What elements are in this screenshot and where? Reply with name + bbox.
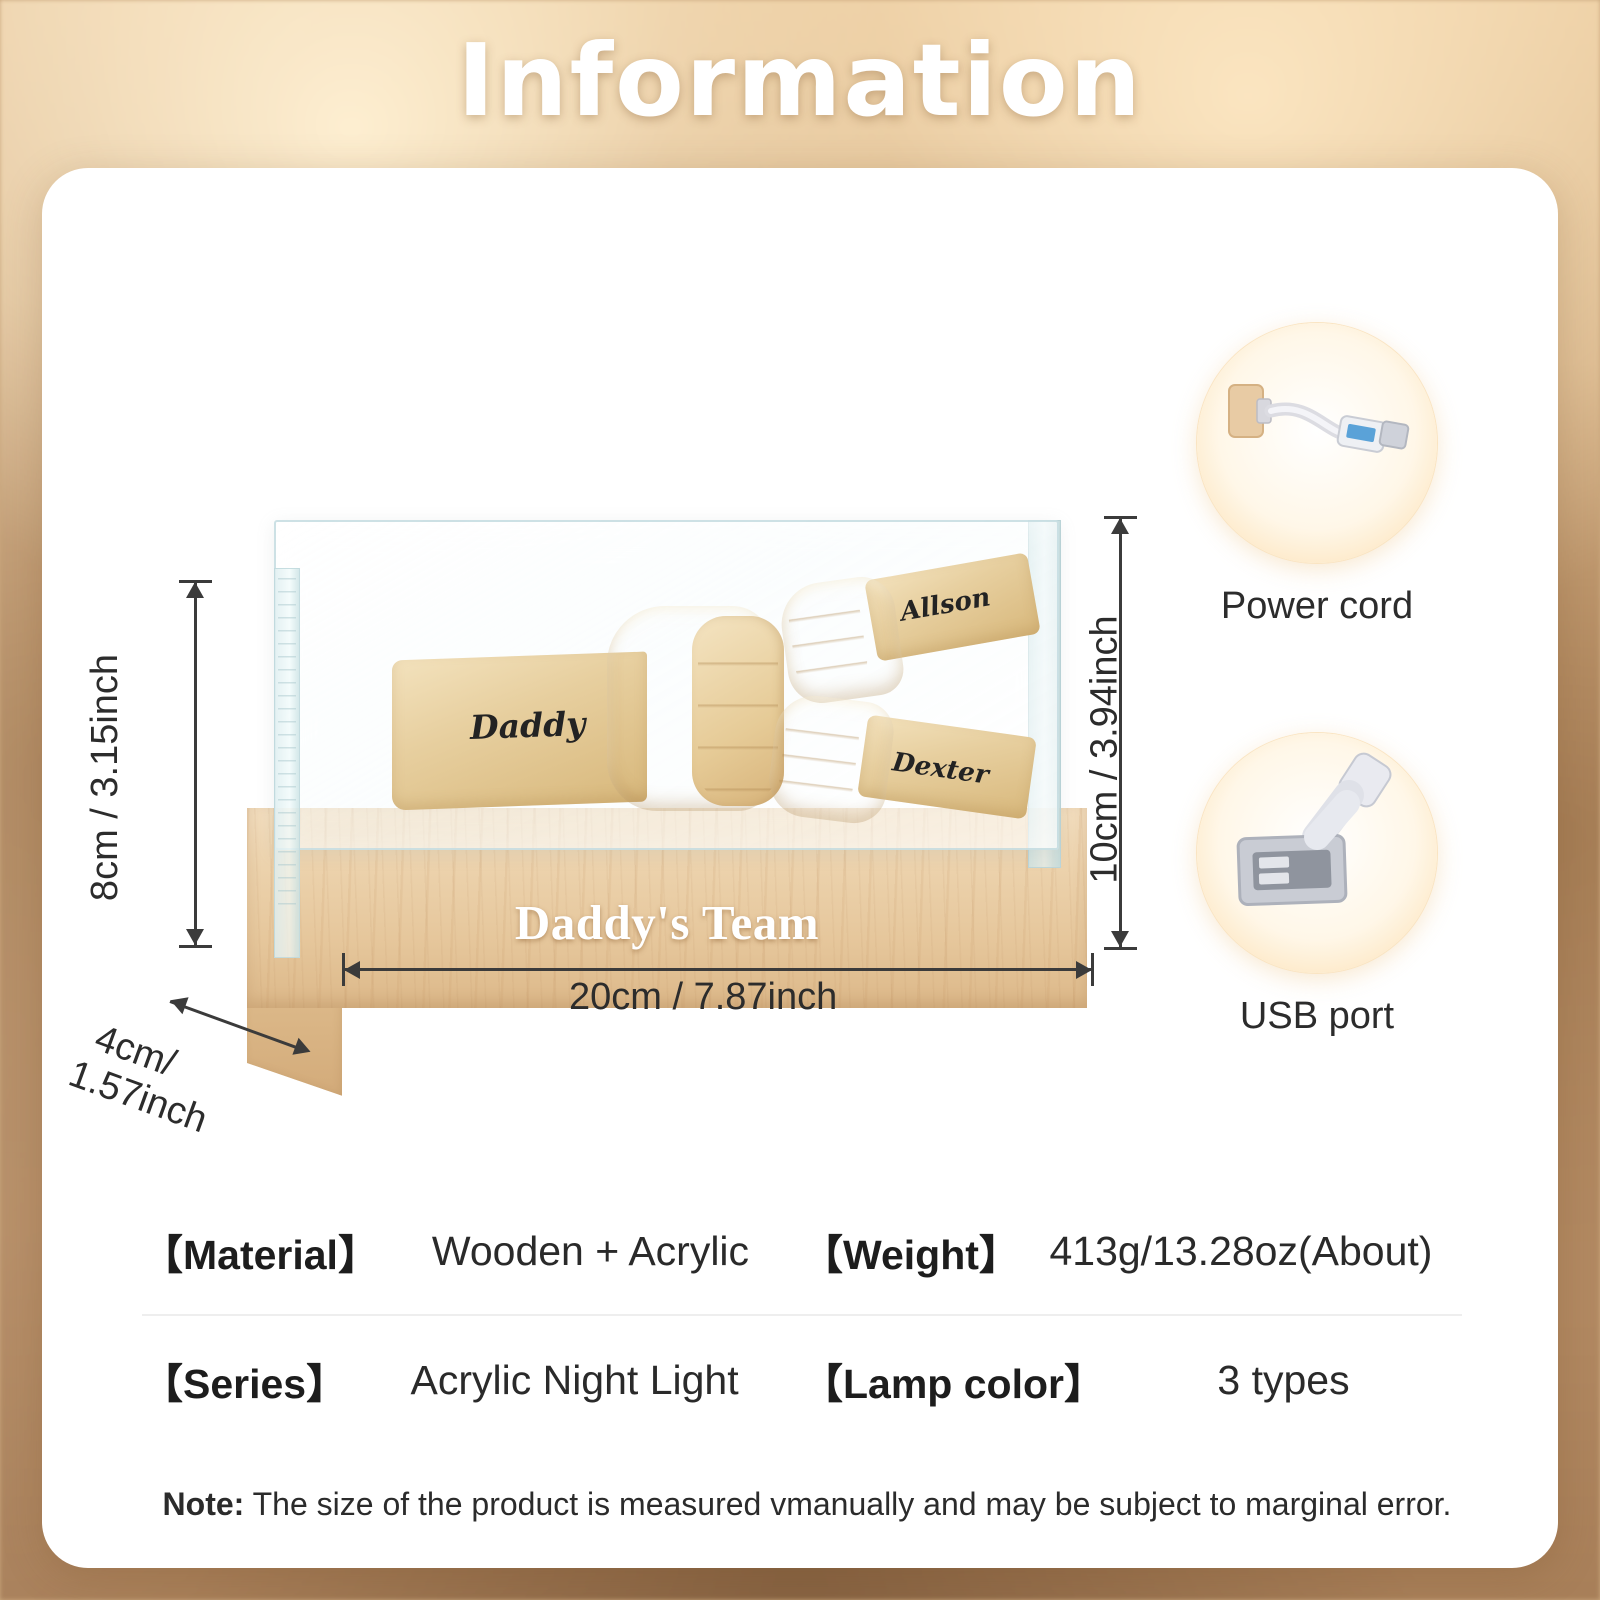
dim-depth-arrow-start	[167, 992, 188, 1014]
page-title: Information	[0, 22, 1600, 139]
dim-width-arrow-left	[344, 961, 360, 979]
dim-left-arrow-down	[186, 929, 204, 945]
spec-cell-lamp-color: 【Lamp color】 3 types	[802, 1350, 1462, 1410]
spec-key: 【Lamp color】	[802, 1350, 1105, 1410]
spec-row: 【Material】 Wooden + Acrylic 【Weight】 413…	[142, 1188, 1462, 1316]
note-body: The size of the product is measured vman…	[244, 1486, 1451, 1522]
sleeve-label-daddy: Daddy	[469, 704, 586, 747]
fist-bump-artwork: Daddy Allson Dexter	[392, 558, 1012, 838]
spec-cell-weight: 【Weight】 413g/13.28oz(About)	[802, 1221, 1462, 1281]
spec-key: 【Series】	[142, 1350, 347, 1410]
dim-right-arrow-up	[1111, 518, 1129, 534]
spec-cell-series: 【Series】 Acrylic Night Light	[142, 1350, 802, 1410]
dim-width-horizontal-line	[342, 968, 1094, 971]
usb-port-circle	[1197, 733, 1437, 973]
power-cord-circle	[1197, 323, 1437, 563]
spec-row: 【Series】 Acrylic Night Light 【Lamp color…	[142, 1316, 1462, 1444]
dim-label-height-right: 10cm / 3.94inch	[1084, 615, 1127, 883]
accessory-usb-port: USB port	[1197, 733, 1437, 1038]
product-illustration: Daddy's Team Daddy Allson Dexter	[42, 168, 1142, 1068]
dim-left-arrow-up	[186, 582, 204, 598]
dim-right-tick-bottom	[1104, 947, 1137, 950]
accessory-caption-usb-port: USB port	[1197, 995, 1437, 1038]
dim-left-vertical-line	[194, 580, 197, 948]
spec-value: 3 types	[1105, 1357, 1462, 1404]
accessory-power-cord: Power cord	[1197, 323, 1437, 628]
note-text: Note: The size of the product is measure…	[142, 1486, 1472, 1523]
dim-width-arrow-right	[1076, 961, 1092, 979]
fist-dexter-finger-lines	[776, 706, 862, 814]
usb-icon	[1197, 733, 1437, 973]
spec-key: 【Weight】	[802, 1221, 1020, 1281]
spec-value: Acrylic Night Light	[347, 1357, 802, 1404]
info-card: Daddy's Team Daddy Allson Dexter	[42, 168, 1558, 1568]
dim-right-arrow-down	[1111, 931, 1129, 947]
spec-value: 413g/13.28oz(About)	[1020, 1228, 1462, 1275]
acrylic-left-edge-lines	[278, 578, 296, 908]
base-engraved-text: Daddy's Team	[247, 894, 1087, 951]
spec-key: 【Material】	[142, 1221, 379, 1281]
dim-label-width: 20cm / 7.87inch	[569, 976, 837, 1019]
spec-value: Wooden + Acrylic	[379, 1228, 802, 1275]
fist-daddy-finger-lines	[698, 624, 778, 800]
spec-table: 【Material】 Wooden + Acrylic 【Weight】 413…	[142, 1188, 1462, 1444]
accessory-caption-power-cord: Power cord	[1197, 585, 1437, 628]
spec-cell-material: 【Material】 Wooden + Acrylic	[142, 1221, 802, 1281]
power-cord-icon	[1197, 323, 1437, 563]
dim-left-tick-bottom	[179, 945, 212, 948]
note-label: Note:	[163, 1486, 245, 1522]
dim-label-height-left: 8cm / 3.15inch	[84, 654, 127, 901]
